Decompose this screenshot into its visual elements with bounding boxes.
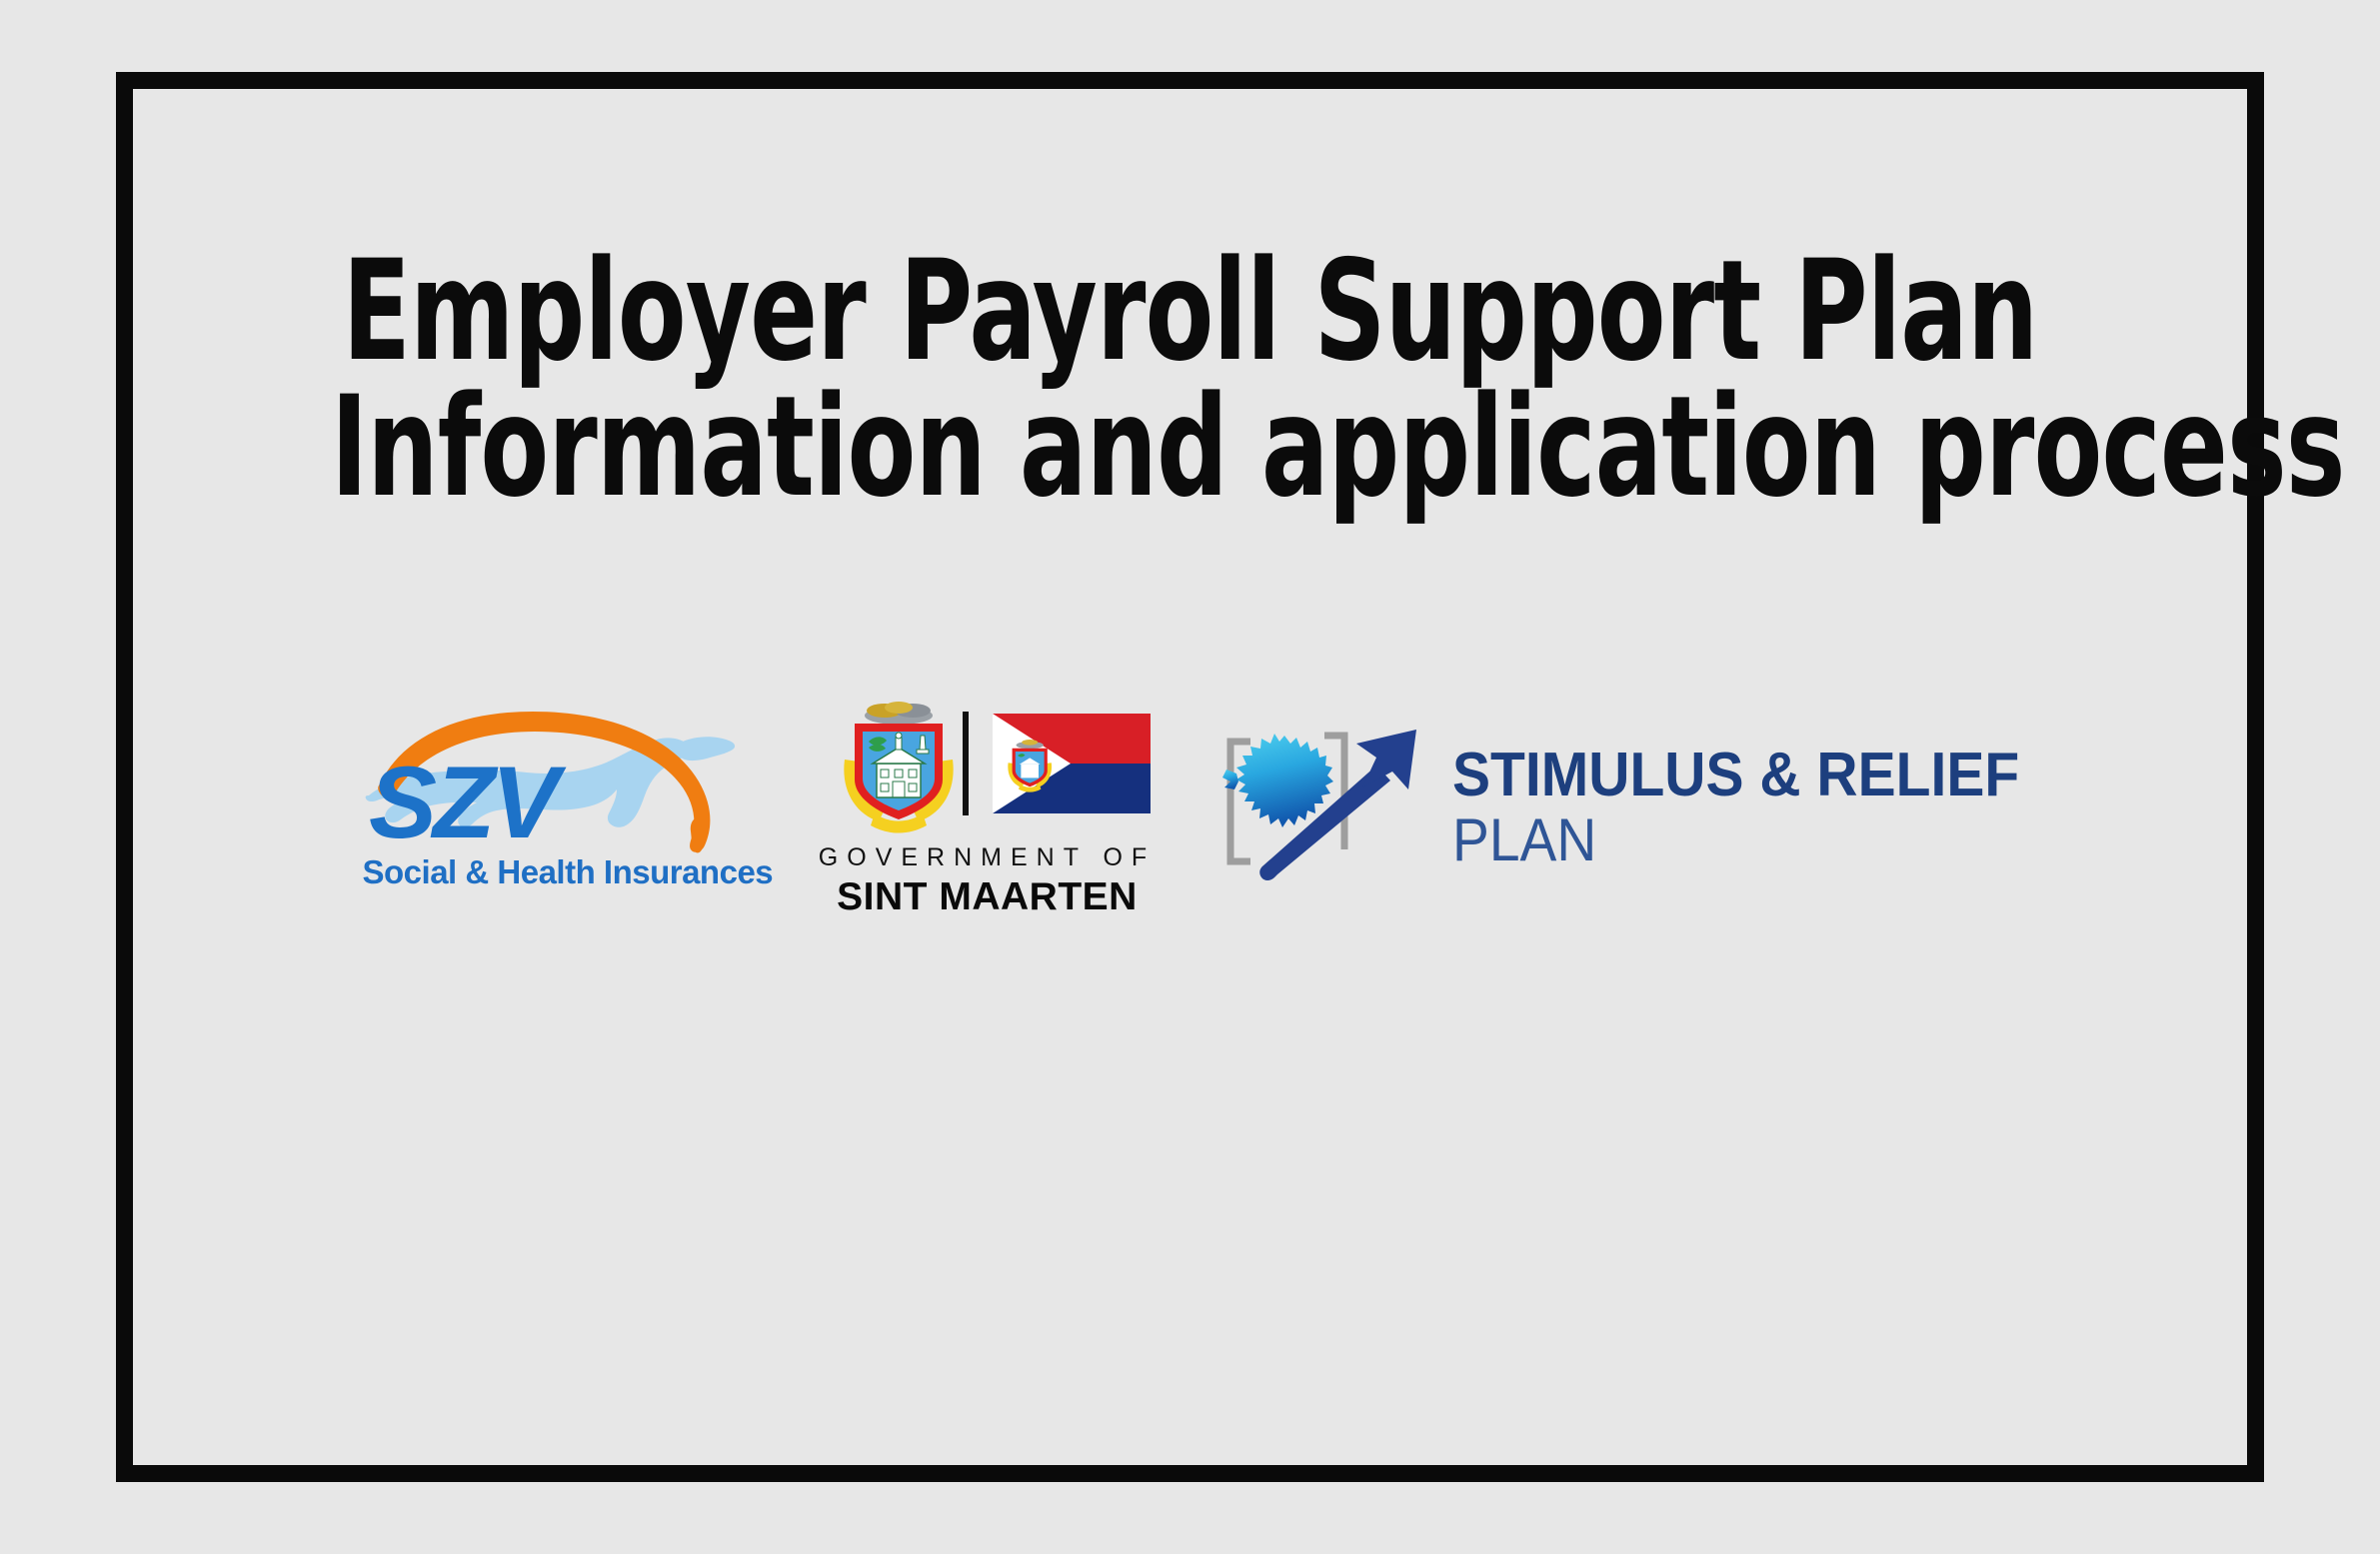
government-label-line-1: GOVERNMENT OF [813,843,1163,872]
stimulus-plan-line-2: PLAN [1452,808,2019,871]
island-map-icon [1222,734,1333,827]
szv-wordmark: SZV [369,746,567,859]
title-line-2: Information and application process [331,381,2049,513]
government-logo-mark [813,696,1163,840]
government-of-sint-maarten-logo: GOVERNMENT OF SINT MAARTEN [813,696,1163,920]
stimulus-plan-line-1: STIMULUS & RELIEF [1452,745,2019,806]
szv-logo-mark: SZV [361,710,751,859]
coat-of-arms-icon [844,702,953,833]
government-label-line-2: SINT MAARTEN [813,875,1163,919]
divider-icon [963,712,969,815]
title-line-1: Employer Payroll Support Plan [331,245,2049,377]
sint-maarten-flag-icon [993,714,1151,813]
stimulus-and-relief-plan-logo: STIMULUS & RELIEF PLAN [1220,718,2020,897]
logo-strip: SZV Social & Health Insurances [116,688,2264,927]
slide-canvas: Employer Payroll Support Plan Informatio… [0,0,2380,1554]
szv-logo: SZV Social & Health Insurances [361,710,751,919]
stimulus-plan-mark [1220,722,1438,893]
szv-tagline: Social & Health Insurances [363,853,749,891]
page-title: Employer Payroll Support Plan Informatio… [116,245,2264,513]
stimulus-plan-wordmark: STIMULUS & RELIEF PLAN [1452,745,2069,871]
